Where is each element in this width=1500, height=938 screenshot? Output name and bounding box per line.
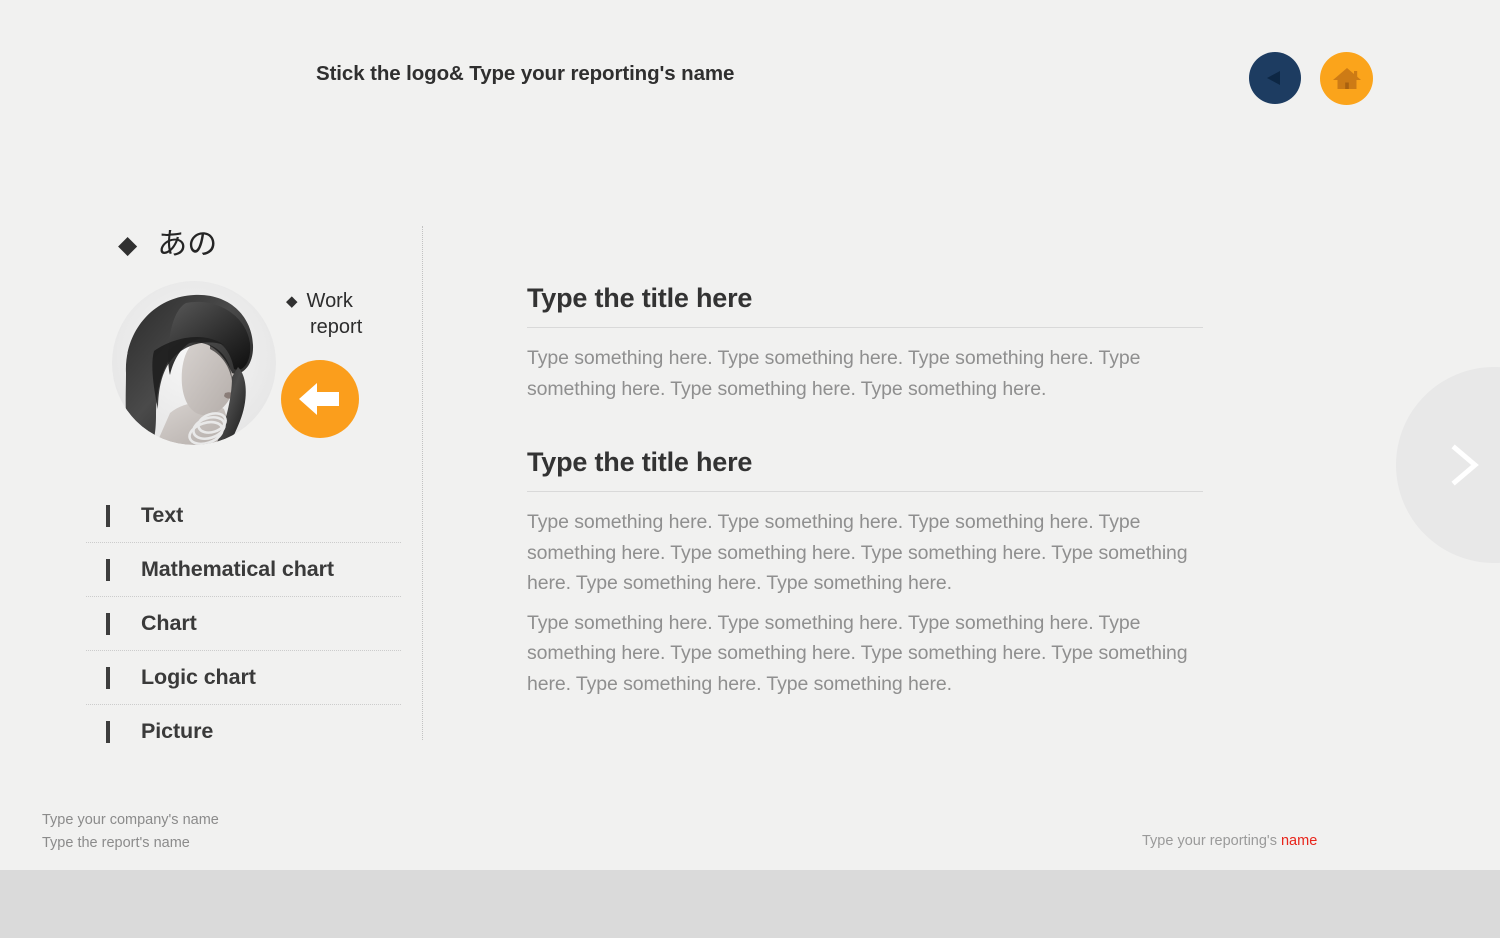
- nav-marker-icon: [106, 505, 110, 527]
- company-name: Type your company's name: [42, 809, 219, 832]
- section-paragraph: Type something here. Type something here…: [527, 507, 1203, 599]
- sidebar-item-label: Mathematical chart: [141, 557, 334, 582]
- sidebar-divider: [422, 226, 423, 740]
- previous-button[interactable]: [281, 360, 359, 438]
- sidebar-item-label: Text: [141, 503, 183, 528]
- title-rule: [527, 327, 1203, 328]
- chevron-right-icon[interactable]: [1440, 440, 1490, 490]
- brand-row: ◆ あの: [118, 230, 217, 260]
- nav-marker-icon: [106, 667, 110, 689]
- content-section: Type the title here Type something here.…: [527, 281, 1203, 404]
- triangle-left-icon: [1263, 66, 1287, 90]
- footer-right: Type your reporting's name: [1142, 833, 1317, 849]
- section-title: Type the title here: [527, 445, 1203, 479]
- slide-canvas: Stick the logo& Type your reporting's na…: [0, 0, 1500, 870]
- main-content: Type the title here Type something here.…: [527, 281, 1203, 699]
- sidebar-item-text[interactable]: Text: [86, 489, 401, 543]
- sidebar-item-label: Logic chart: [141, 665, 256, 690]
- footer-right-accent: name: [1281, 833, 1317, 849]
- nav-marker-icon: [106, 721, 110, 743]
- section-paragraph: Type something here. Type something here…: [527, 343, 1203, 404]
- sidebar-item-chart[interactable]: Chart: [86, 597, 401, 651]
- work-report-line2: report: [286, 314, 396, 340]
- sidebar-item-label: Chart: [141, 611, 197, 636]
- sidebar-item-mathematical-chart[interactable]: Mathematical chart: [86, 543, 401, 597]
- report-name: Type the report's name: [42, 832, 219, 855]
- arrow-left-icon: [297, 379, 343, 419]
- work-report-line1: Work: [307, 288, 353, 314]
- footer-right-prefix: Type your reporting's: [1142, 833, 1281, 849]
- diamond-bullet-icon: ◆: [118, 233, 137, 258]
- title-rule: [527, 491, 1203, 492]
- nav-marker-icon: [106, 559, 110, 581]
- home-icon: [1332, 65, 1362, 93]
- home-nav-button[interactable]: [1320, 52, 1373, 105]
- portrait-avatar-icon: [112, 281, 276, 445]
- work-report-label: ◆ Work report: [286, 288, 396, 340]
- page-title: Stick the logo& Type your reporting's na…: [316, 62, 734, 86]
- section-title: Type the title here: [527, 281, 1203, 315]
- back-nav-button[interactable]: [1249, 52, 1301, 104]
- nav-marker-icon: [106, 613, 110, 635]
- diamond-bullet-icon: ◆: [286, 294, 298, 309]
- footer-left: Type your company's name Type the report…: [42, 809, 219, 855]
- avatar: [112, 281, 276, 445]
- brand-label: あの: [157, 230, 217, 260]
- section-paragraph: Type something here. Type something here…: [527, 608, 1203, 700]
- sidebar-item-picture[interactable]: Picture: [86, 705, 401, 758]
- sidebar-nav: Text Mathematical chart Chart Logic char…: [86, 489, 401, 758]
- bottom-strip: [0, 870, 1500, 938]
- content-section: Type the title here Type something here.…: [527, 445, 1203, 699]
- sidebar-item-label: Picture: [141, 719, 213, 744]
- sidebar-item-logic-chart[interactable]: Logic chart: [86, 651, 401, 705]
